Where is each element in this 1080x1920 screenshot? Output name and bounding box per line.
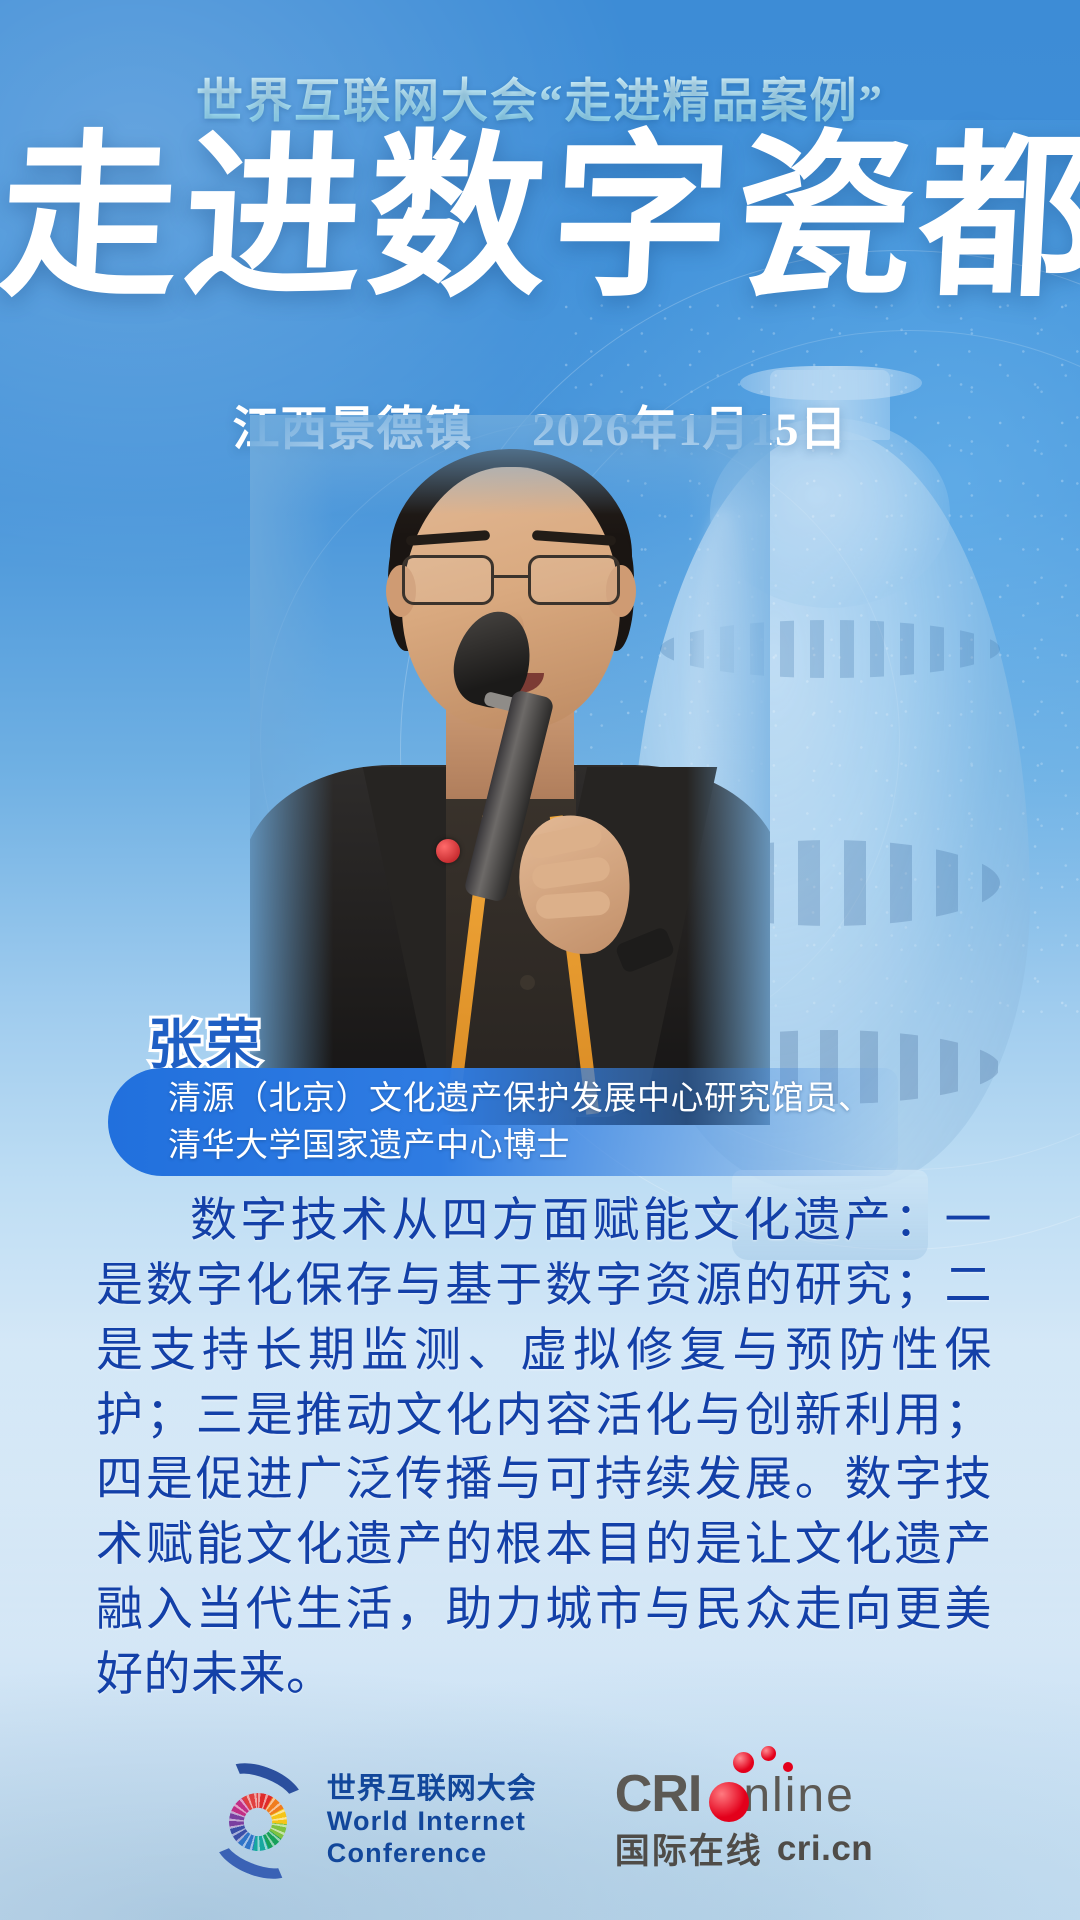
cri-red-dot-tiny-icon [783, 1762, 793, 1772]
portrait-glasses-bridge [494, 575, 530, 578]
portrait-lapel-pin [436, 839, 460, 863]
speaker-title-line-1: 清源（北京）文化遗产保护发展中心研究馆员、 [168, 1075, 898, 1122]
portrait-lens-left [402, 555, 494, 605]
cri-name-cn: 国际在线 [615, 1823, 763, 1874]
world-internet-conference-logo: 世界互联网大会 World Internet Conference [207, 1769, 537, 1873]
cri-red-dot-large-icon [709, 1782, 749, 1822]
wic-name-en-line1: World Internet [327, 1806, 537, 1838]
wic-name-cn: 世界互联网大会 [327, 1772, 537, 1806]
speaker-title-badge: 清源（北京）文化遗产保护发展中心研究馆员、 清华大学国家遗产中心博士 [108, 1068, 898, 1176]
wic-logo-mark-icon [207, 1769, 311, 1873]
portrait-glasses [400, 555, 624, 607]
poster-main-title: 走进数字瓷都 [0, 130, 1080, 308]
portrait-lens-right [528, 555, 620, 605]
cri-website-url: cri.cn [777, 1829, 873, 1869]
wic-logo-text: 世界互联网大会 World Internet Conference [327, 1772, 537, 1870]
wic-colorful-ring-icon [229, 1793, 287, 1851]
speaker-title-line-2: 清华大学国家遗产中心博士 [168, 1122, 898, 1169]
footer-logos: 世界互联网大会 World Internet Conference CRI nl… [0, 1768, 1080, 1874]
speaker-portrait-photo [250, 415, 770, 1125]
cri-logo-wordmark: CRI nline [615, 1768, 873, 1820]
portrait-shirt-button-lower [520, 975, 535, 990]
wic-name-en-line2: Conference [327, 1838, 537, 1870]
portrait-finger-3 [535, 890, 610, 919]
cri-online-logo: CRI nline 国际在线 cri.cn [615, 1768, 873, 1874]
poster-root: 世界互联网大会“走进精品案例” 走进数字瓷都 江西景德镇 2026年1月15日 [0, 0, 1080, 1920]
cri-letters: CRI [615, 1768, 702, 1820]
speaker-quote-text: 数字技术从四方面赋能文化遗产：一是数字化保存与基于数字资源的研究；二是支持长期监… [96, 1188, 992, 1707]
cri-logo-subline: 国际在线 cri.cn [615, 1823, 873, 1874]
cri-red-dot-medium-icon [733, 1752, 754, 1773]
cri-online-word: nline [743, 1772, 854, 1820]
cri-red-dot-small-icon [761, 1746, 776, 1761]
